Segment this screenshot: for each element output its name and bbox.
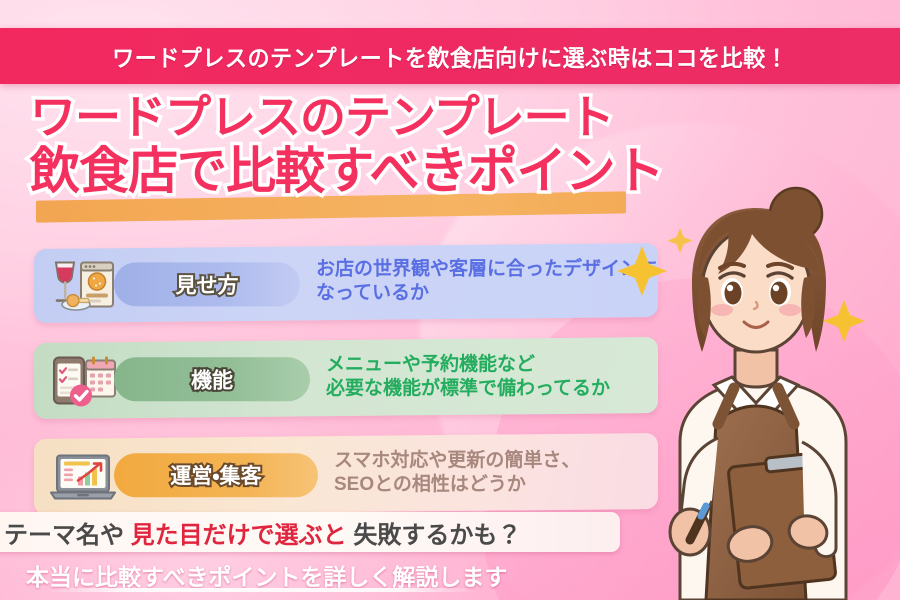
- point-card-features-body: メニューや予約機能など 必要な機能が標準で備わってるか: [326, 353, 610, 402]
- smartphone-checklist-calendar-icon: [48, 352, 120, 410]
- title-line-2: 飲食店で比較すべきポイント: [30, 146, 670, 196]
- title-line-1: ワードプレスのテンプレート: [30, 94, 670, 140]
- point-card-features-label-pill: 機能: [114, 357, 310, 401]
- point-card-operations-label-pill: 運営・集客: [114, 453, 318, 497]
- wine-glass-and-menu-screen-icon: [48, 257, 120, 315]
- page-title: ワードプレスのテンプレート 飲食店で比較すべきポイント: [30, 94, 670, 196]
- point-card-presentation-label-pill: 見せ方: [114, 262, 300, 306]
- footer-subtitle: 本当に比較すべきポイントを詳しく解説します: [26, 558, 507, 592]
- footer-subtitle-underline: [46, 588, 476, 592]
- point-card-operations-body: スマホ対応や更新の簡単さ、 SEOとの相性はどうか: [334, 449, 580, 498]
- point-card-presentation[interactable]: 見せ方 お店の世界観や客層に合ったデザインに なっているか: [34, 243, 658, 323]
- footer-suffix: 失敗するかも？: [347, 522, 522, 549]
- apron-woman-with-clipboard-illustration: [606, 180, 900, 600]
- point-card-features[interactable]: 機能 メニューや予約機能など 必要な機能が標準で備わってるか: [34, 337, 658, 419]
- top-ribbon-banner: ワードプレスのテンプレートを飲食店向けに選ぶ時はココを比較！: [0, 28, 900, 84]
- point-card-features-label: 機能: [191, 364, 233, 394]
- top-ribbon-text: ワードプレスのテンプレートを飲食店向けに選ぶ時はココを比較！: [112, 39, 788, 73]
- footer-callout-text: テーマ名や 見た目だけで選ぶと 失敗するかも？: [4, 515, 521, 550]
- footer-callout-strip: テーマ名や 見た目だけで選ぶと 失敗するかも？: [0, 512, 620, 552]
- title-line-1-wrap: ワードプレスのテンプレート: [30, 94, 670, 140]
- laptop-growth-chart-icon: [48, 448, 120, 506]
- footer-emphasis: 見た目だけで選ぶと: [131, 522, 347, 549]
- infographic-canvas: ワードプレスのテンプレートを飲食店向けに選ぶ時はココを比較！ ワードプレスのテン…: [0, 0, 900, 600]
- point-card-presentation-label: 見せ方: [176, 269, 239, 299]
- point-card-operations[interactable]: 運営・集客 スマホ対応や更新の簡単さ、 SEOとの相性はどうか: [34, 433, 658, 515]
- point-card-operations-label: 運営・集客: [170, 460, 261, 490]
- footer-prefix: テーマ名や: [4, 522, 131, 549]
- title-line-2-wrap: 飲食店で比較すべきポイント: [30, 146, 670, 196]
